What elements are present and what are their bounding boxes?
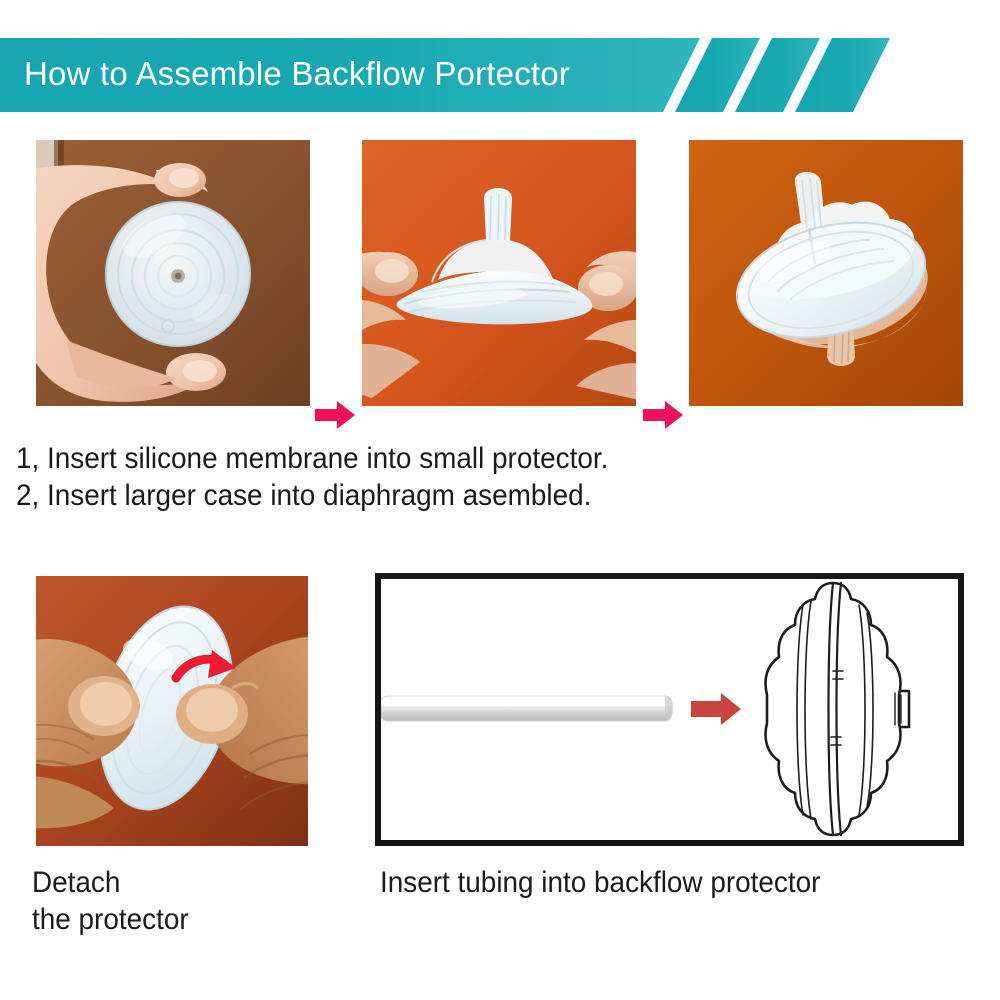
instruction-line-1: 1, Insert silicone membrane into small p…	[16, 440, 853, 477]
instruction-line-2: 2, Insert larger case into diaphragm ase…	[16, 477, 853, 514]
detach-protector-image	[36, 576, 308, 846]
assembled-protector-image	[689, 140, 963, 406]
tubing-caption: Insert tubing into backflow protector	[380, 864, 820, 901]
assembly-photo-row	[0, 140, 1000, 406]
step-photo-2	[362, 140, 636, 406]
step-photo-1	[36, 140, 310, 406]
instruction-list: 1, Insert silicone membrane into small p…	[16, 440, 916, 514]
tubing-graphic	[381, 696, 673, 721]
tubing-insert-diagram	[381, 579, 958, 840]
page-title: How to Assemble Backflow Portector	[24, 55, 570, 93]
arrow-right-icon	[641, 398, 685, 432]
detach-photo	[36, 576, 308, 846]
arrow-right-icon	[313, 398, 357, 432]
infographic-page: How to Assemble Backflow Portector	[0, 0, 1000, 1000]
membrane-inserted-side-view-image	[362, 140, 636, 406]
header-banner: How to Assemble Backflow Portector	[0, 38, 890, 112]
tubing-diagram-box	[375, 573, 964, 846]
detach-caption: Detach the protector	[32, 864, 189, 938]
silicone-membrane-in-hand-image	[36, 140, 310, 406]
step-photo-3	[689, 140, 963, 406]
step-arrow-1	[313, 398, 357, 432]
step-arrow-2	[641, 398, 685, 432]
